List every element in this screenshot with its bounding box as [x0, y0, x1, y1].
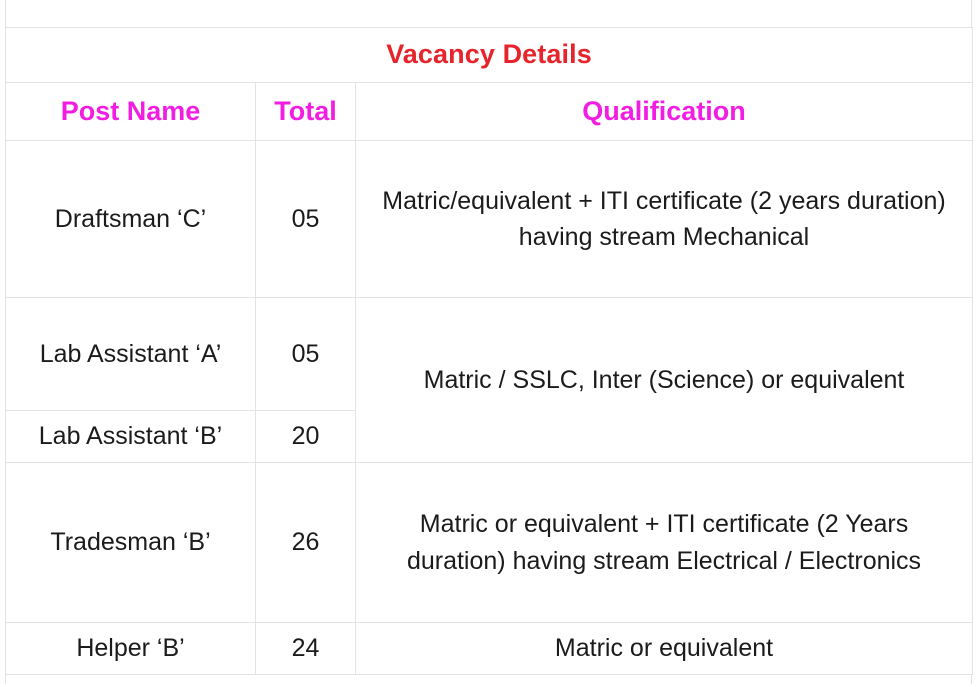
cell-qualification: Matric or equivalent: [356, 623, 973, 675]
table-header-row: Post Name Total Qualification: [6, 83, 973, 141]
cell-qualification-text: Matric/equivalent + ITI certificate (2 y…: [362, 183, 966, 256]
table-row: Lab Assistant ‘A’ 05 Matric / SSLC, Inte…: [6, 298, 973, 411]
cell-qualification: Matric / SSLC, Inter (Science) or equiva…: [356, 298, 973, 463]
table-title-row: Vacancy Details: [6, 28, 973, 83]
column-header-total-label: Total: [274, 96, 337, 126]
column-header-qualification: Qualification: [356, 83, 973, 141]
cell-total: 26: [256, 463, 356, 623]
cell-post-name: Helper ‘B’: [6, 623, 256, 675]
cell-post-name: Tradesman ‘B’: [6, 463, 256, 623]
cell-post-name: Lab Assistant ‘B’: [6, 411, 256, 463]
clipped-row-above: [5, 0, 972, 27]
column-header-total: Total: [256, 83, 356, 141]
cell-qualification-text: Matric or equivalent + ITI certificate (…: [362, 506, 966, 579]
vacancy-details-table: Vacancy Details Post Name Total Qualific…: [5, 27, 973, 675]
cell-post-name: Draftsman ‘C’: [6, 141, 256, 298]
cell-total: 05: [256, 298, 356, 411]
column-header-qualification-label: Qualification: [582, 96, 746, 126]
table-row: Tradesman ‘B’ 26 Matric or equivalent + …: [6, 463, 973, 623]
cell-qualification: Matric/equivalent + ITI certificate (2 y…: [356, 141, 973, 298]
table-row: Draftsman ‘C’ 05 Matric/equivalent + ITI…: [6, 141, 973, 298]
cell-total: 05: [256, 141, 356, 298]
cell-total: 20: [256, 411, 356, 463]
cell-total: 24: [256, 623, 356, 675]
table-row: Helper ‘B’ 24 Matric or equivalent: [6, 623, 973, 675]
clipped-row-below: [5, 675, 972, 684]
column-header-post-name-label: Post Name: [61, 96, 201, 126]
cell-qualification: Matric or equivalent + ITI certificate (…: [356, 463, 973, 623]
cell-qualification-text: Matric or equivalent: [362, 630, 966, 666]
column-header-post-name: Post Name: [6, 83, 256, 141]
vacancy-details-page: Vacancy Details Post Name Total Qualific…: [0, 0, 977, 687]
cell-post-name: Lab Assistant ‘A’: [6, 298, 256, 411]
table-title-cell: Vacancy Details: [6, 28, 973, 83]
cell-qualification-text: Matric / SSLC, Inter (Science) or equiva…: [362, 362, 966, 398]
page-title: Vacancy Details: [386, 39, 592, 69]
